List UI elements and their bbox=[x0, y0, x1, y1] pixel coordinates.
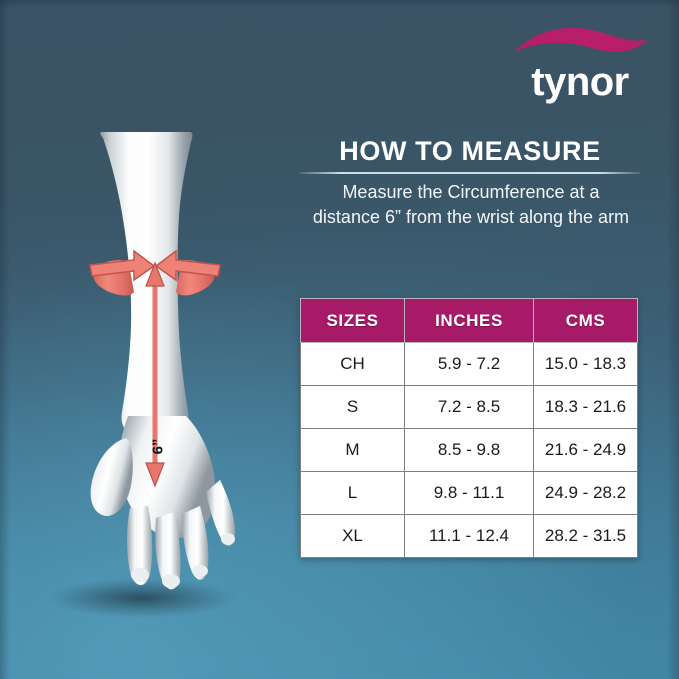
cell-size: XL bbox=[301, 515, 405, 558]
page-subtitle: Measure the Circumference at a distance … bbox=[268, 180, 674, 230]
table-header-row: SIZES INCHES CMS bbox=[301, 299, 638, 343]
thumb-shape bbox=[91, 438, 133, 516]
cell-size: L bbox=[301, 472, 405, 515]
size-chart-table: SIZES INCHES CMS CH 5.9 - 7.2 15.0 - 18.… bbox=[300, 298, 638, 558]
table-row: M 8.5 - 9.8 21.6 - 24.9 bbox=[301, 429, 638, 472]
page-title: HOW TO MEASURE bbox=[275, 136, 665, 167]
cell-inches: 7.2 - 8.5 bbox=[405, 386, 534, 429]
column-header-cms: CMS bbox=[534, 299, 638, 343]
nail-index bbox=[131, 568, 149, 582]
cell-size: CH bbox=[301, 343, 405, 386]
cell-inches: 5.9 - 7.2 bbox=[405, 343, 534, 386]
cell-inches: 11.1 - 12.4 bbox=[405, 515, 534, 558]
table-row: XL 11.1 - 12.4 28.2 - 31.5 bbox=[301, 515, 638, 558]
brand-wordmark: tynor bbox=[500, 60, 660, 104]
cell-inches: 8.5 - 9.8 bbox=[405, 429, 534, 472]
arm-measurement-illustration: 6” bbox=[30, 120, 280, 620]
right-edge-shading bbox=[667, 0, 679, 679]
title-divider bbox=[300, 172, 640, 174]
table-row: CH 5.9 - 7.2 15.0 - 18.3 bbox=[301, 343, 638, 386]
cell-cms: 18.3 - 21.6 bbox=[534, 386, 638, 429]
cell-cms: 24.9 - 28.2 bbox=[534, 472, 638, 515]
table-row: S 7.2 - 8.5 18.3 - 21.6 bbox=[301, 386, 638, 429]
left-edge-shading bbox=[0, 0, 10, 679]
subtitle-line-1: Measure the Circumference at a bbox=[268, 180, 674, 205]
table-row: L 9.8 - 11.1 24.9 - 28.2 bbox=[301, 472, 638, 515]
nail-middle bbox=[162, 574, 180, 588]
swoosh-icon bbox=[508, 22, 654, 62]
size-chart-graphic: tynor HOW TO MEASURE Measure the Circumf… bbox=[0, 0, 679, 679]
brand-logo: tynor bbox=[500, 22, 660, 104]
distance-measure-label: 6” bbox=[149, 439, 166, 455]
cell-size: M bbox=[301, 429, 405, 472]
cell-cms: 15.0 - 18.3 bbox=[534, 343, 638, 386]
column-header-inches: INCHES bbox=[405, 299, 534, 343]
nail-ring bbox=[192, 565, 208, 577]
cell-inches: 9.8 - 11.1 bbox=[405, 472, 534, 515]
column-header-sizes: SIZES bbox=[301, 299, 405, 343]
cell-cms: 28.2 - 31.5 bbox=[534, 515, 638, 558]
arm-diagram-svg bbox=[30, 120, 280, 620]
top-edge-shading bbox=[0, 0, 679, 8]
cell-size: S bbox=[301, 386, 405, 429]
subtitle-line-2: distance 6” from the wrist along the arm bbox=[268, 205, 674, 230]
nail-little bbox=[221, 533, 235, 545]
cell-cms: 21.6 - 24.9 bbox=[534, 429, 638, 472]
